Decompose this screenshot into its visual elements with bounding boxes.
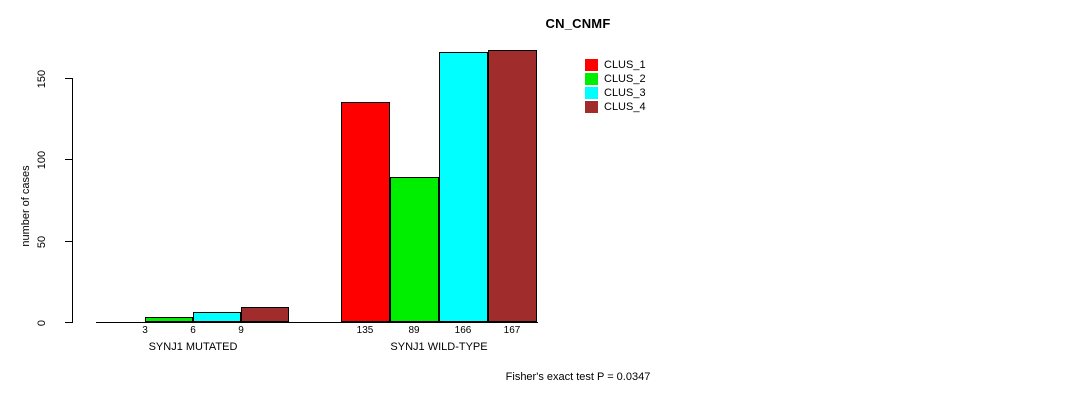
bar-value-label: 167 [482, 325, 542, 336]
bar-value-label: 9 [211, 325, 271, 336]
y-axis-tick-0 [65, 322, 72, 323]
y-axis-tick-label-50: 50 [36, 222, 48, 262]
x-axis-baseline [96, 322, 538, 323]
bar-clus4-mutated[interactable] [241, 307, 289, 322]
bar-clus2-wild-type[interactable] [390, 177, 439, 322]
y-axis-tick-50 [65, 241, 72, 242]
legend: CLUS_1 CLUS_2 CLUS_3 CLUS_4 [585, 58, 646, 114]
bar-clus3-mutated[interactable] [193, 312, 241, 322]
statistical-test-annotation: Fisher's exact test P = 0.0347 [0, 371, 1090, 383]
bar-group-synj1-mutated [97, 52, 289, 322]
legend-item-clus-2[interactable]: CLUS_2 [585, 72, 646, 86]
legend-item-clus-4[interactable]: CLUS_4 [585, 100, 646, 114]
y-axis-tick-label-150: 150 [36, 59, 48, 99]
bar-group-synj1-wild-type [341, 52, 537, 322]
bar-clus2-mutated[interactable] [145, 317, 193, 322]
bar-clus4-wild-type[interactable] [488, 50, 537, 322]
page-title: CN_CNMF [0, 16, 1090, 31]
y-axis-tick-150 [65, 78, 72, 79]
legend-swatch-icon [585, 101, 598, 113]
legend-label: CLUS_4 [604, 101, 646, 113]
legend-item-clus-3[interactable]: CLUS_3 [585, 86, 646, 100]
x-axis-group-label-mutated: SYNJ1 MUTATED [63, 341, 323, 353]
y-axis-title: number of cases [20, 136, 32, 276]
legend-item-clus-1[interactable]: CLUS_1 [585, 58, 646, 72]
bar-clus3-wild-type[interactable] [439, 52, 488, 322]
bar-chart-figure: CN_CNMF number of cases 0 50 100 150 3 6… [0, 0, 1090, 400]
y-axis-tick-label-0: 0 [36, 303, 48, 343]
legend-label: CLUS_2 [604, 73, 646, 85]
bar-clus1-wild-type[interactable] [341, 102, 390, 322]
y-axis-tick-100 [65, 159, 72, 160]
legend-swatch-icon [585, 59, 598, 71]
legend-swatch-icon [585, 73, 598, 85]
legend-label: CLUS_3 [604, 87, 646, 99]
y-axis-line [72, 78, 73, 323]
legend-label: CLUS_1 [604, 59, 646, 71]
x-axis-group-label-wild-type: SYNJ1 WILD-TYPE [309, 341, 569, 353]
legend-swatch-icon [585, 87, 598, 99]
y-axis-tick-label-100: 100 [36, 140, 48, 180]
